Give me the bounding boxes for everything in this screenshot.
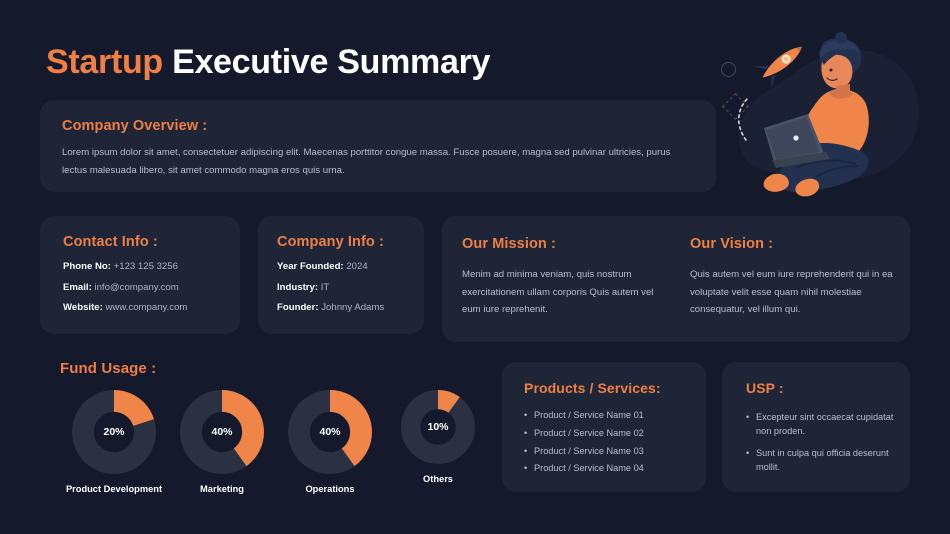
mission-vision-card: Our Mission : Menim ad minima veniam, qu…	[442, 216, 910, 342]
bullet-dot-icon: •	[524, 426, 534, 440]
contact-phone-label: Phone No:	[63, 261, 111, 272]
products-services-card: Products / Services: •Product / Service …	[502, 362, 706, 492]
mission-section: Our Mission : Menim ad minima veniam, qu…	[462, 236, 666, 319]
list-item: Year Founded: 2024	[277, 262, 384, 272]
donut-chart: 20%	[72, 390, 156, 474]
company-founder-label: Founder:	[277, 302, 319, 313]
donut-value-label: 10%	[401, 421, 475, 433]
company-overview-card: Company Overview : Lorem ipsum dolor sit…	[40, 100, 716, 192]
company-info-heading: Company Info :	[277, 234, 384, 250]
products-services-heading: Products / Services:	[524, 380, 661, 396]
company-overview-heading: Company Overview :	[62, 118, 207, 134]
product-service-item-label: Product / Service Name 02	[534, 426, 644, 440]
product-service-item-label: Product / Service Name 01	[534, 408, 644, 422]
bullet-dot-icon: •	[524, 444, 534, 458]
donut-value-label: 40%	[180, 426, 264, 438]
list-item: Website: www.company.com	[63, 303, 187, 313]
contact-info-heading: Contact Info :	[63, 234, 158, 250]
company-founder-value: Johnny Adams	[321, 302, 384, 313]
product-service-item-label: Product / Service Name 04	[534, 461, 644, 475]
slide-canvas: Startup Executive Summary	[0, 0, 950, 534]
donut-chart: 10%	[401, 390, 475, 464]
donut-category-label: Marketing	[168, 483, 276, 496]
product-service-item-label: Product / Service Name 03	[534, 444, 644, 458]
list-item: •Excepteur sint occaecat cupidatat non p…	[746, 410, 898, 439]
list-item: Industry: IT	[277, 283, 384, 293]
company-info-card: Company Info : Year Founded: 2024 Indust…	[258, 216, 424, 334]
company-year-value: 2024	[346, 261, 367, 272]
vision-heading: Our Vision :	[690, 236, 894, 252]
vision-text: Quis autem vel eum iure reprehenderit qu…	[690, 266, 894, 319]
donut-chart: 40%	[288, 390, 372, 474]
page-title: Startup Executive Summary	[46, 43, 490, 82]
fund-usage-donut: 40%Marketing	[168, 390, 276, 496]
list-item: Email: info@company.com	[63, 283, 187, 293]
company-industry-value: IT	[321, 282, 330, 293]
company-overview-text: Lorem ipsum dolor sit amet, consectetuer…	[62, 144, 696, 179]
usp-item-label: Sunt in culpa qui officia deserunt molli…	[756, 446, 898, 475]
mission-heading: Our Mission :	[462, 236, 666, 252]
donut-category-label: Operations	[276, 483, 384, 496]
circle-outline-icon	[721, 62, 736, 77]
fund-usage-section: Fund Usage : 20%Product Development40%Ma…	[60, 360, 480, 500]
donut-value-label: 20%	[72, 426, 156, 438]
contact-website-label: Website:	[63, 302, 103, 313]
contact-info-card: Contact Info : Phone No: +123 125 3256 E…	[40, 216, 240, 334]
company-year-label: Year Founded:	[277, 261, 344, 272]
contact-email-label: Email:	[63, 282, 92, 293]
contact-phone-value: +123 125 3256	[114, 261, 178, 272]
donut-category-label: Others	[384, 473, 492, 486]
usp-item-label: Excepteur sint occaecat cupidatat non pr…	[756, 410, 898, 439]
title-plain-words: Executive Summary	[172, 43, 490, 81]
usp-card: USP : •Excepteur sint occaecat cupidatat…	[722, 362, 910, 492]
products-services-list: •Product / Service Name 01•Product / Ser…	[524, 408, 694, 479]
fund-usage-donut-row: 20%Product Development40%Marketing40%Ope…	[60, 390, 492, 496]
list-item: •Product / Service Name 01	[524, 408, 694, 422]
list-item: •Product / Service Name 04	[524, 461, 694, 475]
fund-usage-donut: 40%Operations	[276, 390, 384, 496]
company-info-list: Year Founded: 2024 Industry: IT Founder:…	[277, 262, 384, 324]
fund-usage-heading: Fund Usage :	[60, 360, 156, 377]
list-item: •Sunt in culpa qui officia deserunt moll…	[746, 446, 898, 475]
bullet-dot-icon: •	[524, 408, 534, 422]
list-item: •Product / Service Name 02	[524, 426, 694, 440]
fund-usage-donut: 20%Product Development	[60, 390, 168, 496]
list-item: •Product / Service Name 03	[524, 444, 694, 458]
contact-website-value: www.company.com	[105, 302, 187, 313]
contact-info-list: Phone No: +123 125 3256 Email: info@comp…	[63, 262, 187, 324]
dashed-diamond-icon	[722, 93, 749, 120]
donut-category-label: Product Development	[60, 483, 168, 496]
donut-value-label: 40%	[288, 426, 372, 438]
list-item: Founder: Johnny Adams	[277, 303, 384, 313]
contact-email-value: info@company.com	[94, 282, 178, 293]
bullet-dot-icon: •	[524, 461, 534, 475]
usp-list: •Excepteur sint occaecat cupidatat non p…	[746, 410, 898, 481]
bullet-dot-icon: •	[746, 410, 756, 424]
bullet-dot-icon: •	[746, 446, 756, 460]
fund-usage-donut: 10%Others	[384, 390, 492, 486]
list-item: Phone No: +123 125 3256	[63, 262, 187, 272]
company-industry-label: Industry:	[277, 282, 318, 293]
donut-chart: 40%	[180, 390, 264, 474]
title-accent-word: Startup	[46, 43, 163, 81]
mission-text: Menim ad minima veniam, quis nostrum exe…	[462, 266, 666, 319]
vision-section: Our Vision : Quis autem vel eum iure rep…	[690, 236, 894, 319]
circle-outline-icon	[867, 60, 882, 75]
usp-heading: USP :	[746, 380, 784, 396]
diamond-outline-icon	[873, 97, 898, 122]
